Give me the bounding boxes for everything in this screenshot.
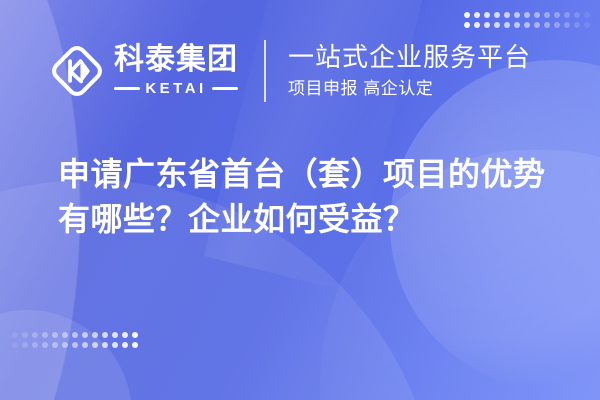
page-title-line-2: 有哪些？企业如何受益？ — [58, 197, 560, 242]
dot — [484, 12, 490, 18]
page-title: 申请广东省首台（套）项目的优势 有哪些？企业如何受益？ — [58, 152, 560, 242]
dot-column — [574, 12, 580, 28]
dot — [22, 342, 28, 348]
promo-banner: 科泰集团 KETAI 一站式企业服务平台 项目申报 高企认定 申请广东省首台（套… — [0, 0, 600, 400]
dot — [494, 12, 500, 18]
dot — [112, 332, 118, 338]
dot — [82, 332, 88, 338]
dot — [524, 12, 530, 18]
dot-column — [42, 332, 48, 348]
dot — [122, 342, 128, 348]
dot — [112, 342, 118, 348]
dot — [102, 332, 108, 338]
dot — [504, 22, 510, 28]
dot-grid-bottom-left — [12, 332, 138, 348]
dot — [102, 342, 108, 348]
dot-column — [132, 332, 138, 348]
slogan-primary: 一站式企业服务平台 — [288, 43, 531, 73]
wordmark-rule-right — [212, 87, 238, 90]
dot-column — [474, 12, 480, 28]
dot — [72, 342, 78, 348]
dot — [32, 342, 38, 348]
dot — [12, 342, 18, 348]
dot — [514, 22, 520, 28]
wordmark-rule-left — [114, 87, 140, 90]
dot — [564, 12, 570, 18]
slogan-secondary: 项目申报 高企认定 — [288, 79, 531, 99]
dot — [42, 342, 48, 348]
dot — [42, 332, 48, 338]
dot-column — [62, 332, 68, 348]
dot-column — [484, 12, 490, 28]
dot — [474, 12, 480, 18]
dot-column — [564, 12, 570, 28]
dot — [484, 22, 490, 28]
dot-column — [584, 12, 590, 28]
ketai-diamond-kd-logo-icon — [48, 42, 106, 100]
dot — [554, 12, 560, 18]
dot-column — [112, 332, 118, 348]
dot — [564, 22, 570, 28]
dot — [584, 22, 590, 28]
dot — [574, 22, 580, 28]
dot — [534, 12, 540, 18]
dot — [32, 332, 38, 338]
brand-wordmark: 科泰集团 KETAI — [114, 45, 238, 97]
dot — [62, 342, 68, 348]
dot — [92, 332, 98, 338]
dot — [514, 12, 520, 18]
dot-grid-top-right — [464, 12, 590, 28]
dot — [22, 332, 28, 338]
page-title-line-1: 申请广东省首台（套）项目的优势 — [58, 152, 560, 197]
dot — [82, 342, 88, 348]
dot-column — [12, 332, 18, 348]
slogan-block: 一站式企业服务平台 项目申报 高企认定 — [288, 43, 531, 98]
dot — [72, 332, 78, 338]
dot — [122, 332, 128, 338]
dot-column — [554, 12, 560, 28]
banner-header: 科泰集团 KETAI 一站式企业服务平台 项目申报 高企认定 — [48, 34, 560, 108]
dot — [544, 12, 550, 18]
dot-column — [524, 12, 530, 28]
bottom-left-small-circle — [0, 310, 132, 400]
dot — [464, 12, 470, 18]
brand-name-en-row: KETAI — [114, 80, 238, 97]
dot — [132, 332, 138, 338]
brand-logo[interactable]: 科泰集团 KETAI — [48, 42, 238, 100]
dot — [504, 12, 510, 18]
dot-column — [534, 12, 540, 28]
dot — [554, 22, 560, 28]
dot-column — [92, 332, 98, 348]
dot — [494, 22, 500, 28]
dot-column — [464, 12, 470, 28]
brand-name-en: KETAI — [145, 80, 206, 97]
dot-column — [32, 332, 38, 348]
dot — [62, 332, 68, 338]
dot-column — [72, 332, 78, 348]
dot-column — [544, 12, 550, 28]
dot-column — [22, 332, 28, 348]
dot — [584, 12, 590, 18]
dot — [524, 22, 530, 28]
dot — [474, 22, 480, 28]
dot — [92, 342, 98, 348]
header-divider — [264, 40, 266, 102]
dot — [464, 22, 470, 28]
dot-column — [494, 12, 500, 28]
dot — [132, 342, 138, 348]
dot — [52, 342, 58, 348]
dot — [52, 332, 58, 338]
dot-column — [52, 332, 58, 348]
dot-column — [504, 12, 510, 28]
dot — [574, 12, 580, 18]
dot-column — [102, 332, 108, 348]
dot — [12, 332, 18, 338]
brand-name-cn: 科泰集团 — [114, 45, 238, 75]
dot — [534, 22, 540, 28]
dot-column — [122, 332, 128, 348]
dot-column — [514, 12, 520, 28]
dot — [544, 22, 550, 28]
dot-column — [82, 332, 88, 348]
